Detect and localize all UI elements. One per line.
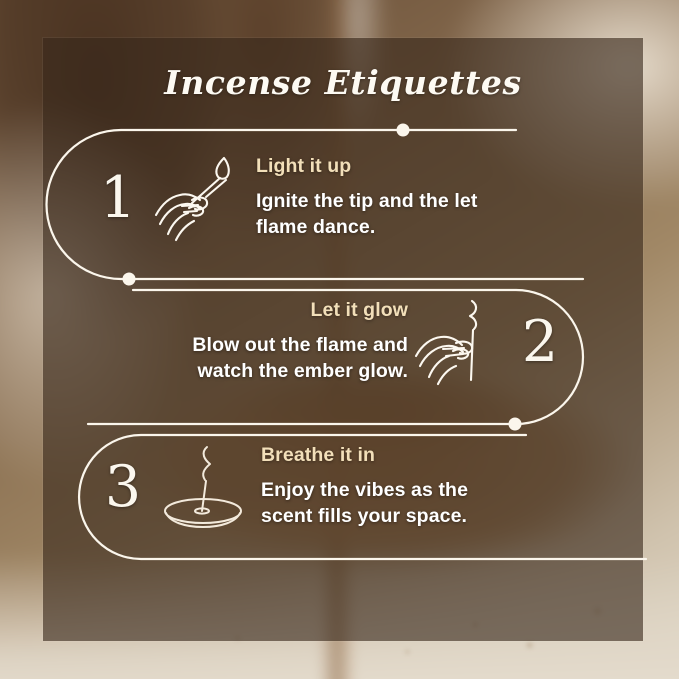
incense-stick-in-dish-icon (151, 443, 255, 531)
step-body-1: Ignite the tip and the let flame dance. (256, 189, 488, 240)
step-number-1: 1 (90, 170, 146, 227)
step-text-block-2: Let it glow Blow out the flame and watch… (140, 299, 408, 384)
step-number-2: 2 (512, 314, 568, 371)
step-heading-1: Light it up (256, 155, 488, 178)
step-row-1: 1 Light it up Ignite the (90, 152, 520, 244)
step-body-2: Blow out the flame and watch the ember g… (140, 333, 408, 384)
step-body-3: Enjoy the vibes as the scent fills your … (261, 478, 511, 529)
step-row-3: 3 Breathe it in Enjoy the vibes as the s… (95, 443, 535, 531)
step-heading-2: Let it glow (140, 299, 408, 322)
hand-holding-incense-stick-icon (408, 296, 512, 388)
infographic-stage: Incense Etiquettes 1 (0, 0, 679, 679)
step-text-block-3: Breathe it in Enjoy the vibes as the sce… (261, 444, 511, 529)
step-row-2: Let it glow Blow out the flame and watch… (140, 296, 580, 388)
hand-holding-lit-match-icon (146, 152, 250, 244)
step-number-3: 3 (95, 459, 151, 516)
step-heading-3: Breathe it in (261, 444, 511, 467)
page-title: Incense Etiquettes (43, 63, 643, 102)
step-text-block-1: Light it up Ignite the tip and the let f… (256, 155, 488, 240)
